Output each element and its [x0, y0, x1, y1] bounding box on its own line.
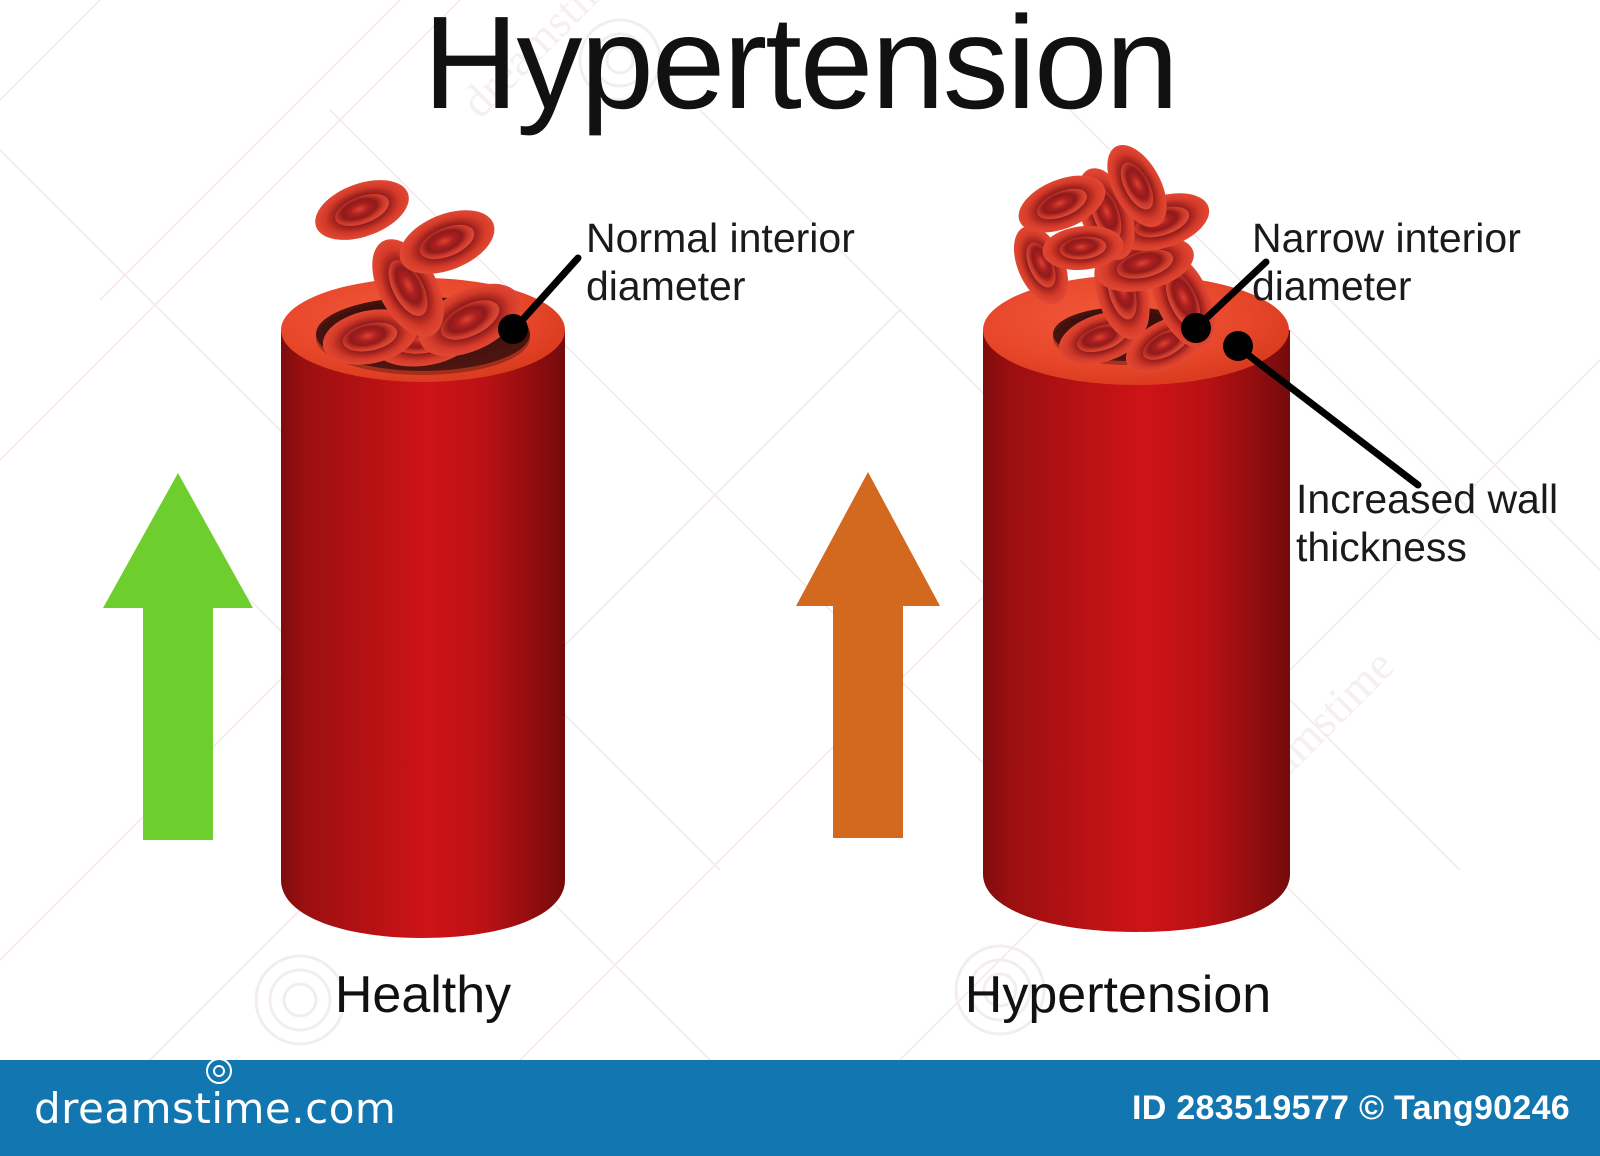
up-arrow-green-icon [103, 473, 253, 840]
callout-line-1: Narrow interior [1252, 215, 1521, 261]
callout-line-1: Increased wall [1296, 476, 1558, 522]
arrow-hypertension [796, 472, 940, 838]
page-title: Hypertension [423, 0, 1177, 136]
footer-bar: dreamstime.com ID 283519577 © Tang90246 [0, 1060, 1600, 1156]
panel-hypertension: Narrow interior diameter Increased wall … [796, 135, 1558, 1024]
panel-healthy: Normal interior diameter Healthy [103, 168, 855, 1024]
callout-line-2: diameter [586, 263, 746, 309]
spiral-icon [206, 1058, 232, 1084]
footer-logo-text: dreamstime.com [34, 1084, 396, 1133]
leader-dot [1223, 331, 1253, 361]
vessel-body-healthy [281, 330, 565, 938]
vessel-body-hypertension [983, 330, 1290, 932]
leader-dot [1181, 313, 1211, 343]
caption-healthy: Healthy [335, 966, 511, 1024]
diagram-canvas: dreamstime dreamstime Hypertension [0, 0, 1600, 1156]
footer-credit: ID 283519577 © Tang90246 [1132, 1089, 1570, 1128]
caption-hypertension: Hypertension [965, 966, 1271, 1024]
callout-line-2: thickness [1296, 524, 1467, 570]
leader-dot [498, 314, 528, 344]
callout-line-1: Normal interior [586, 215, 855, 261]
up-arrow-orange-icon [796, 472, 940, 838]
callout-line-2: diameter [1252, 263, 1412, 309]
arrow-healthy [103, 473, 253, 840]
hypertension-illustration: dreamstime dreamstime Hypertension [0, 0, 1600, 1156]
dreamstime-logo[interactable]: dreamstime.com [34, 1084, 396, 1133]
